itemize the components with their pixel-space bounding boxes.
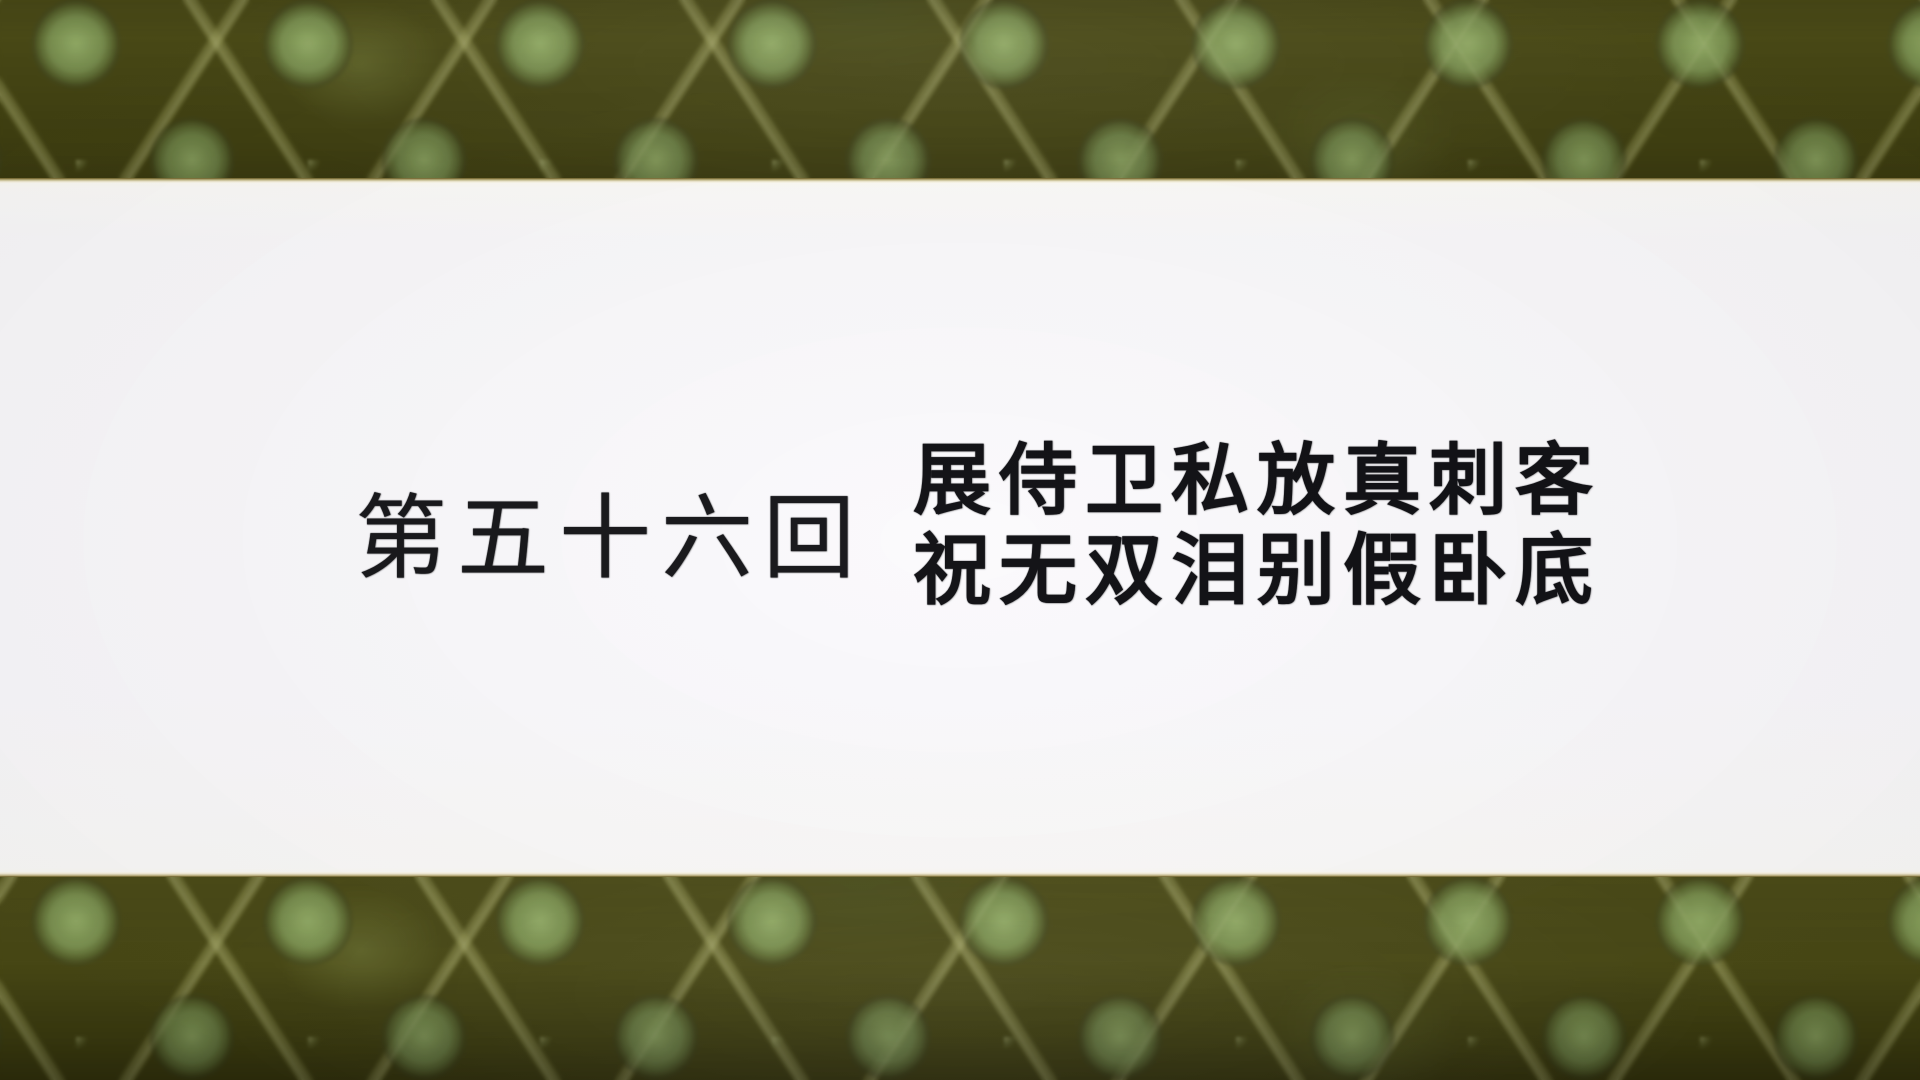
decorative-tile-border-bottom	[0, 877, 1920, 1080]
couplet-line-first: 展侍卫私放真刺客	[913, 437, 1601, 524]
couplet-line-second: 祝无双泪别假卧底	[913, 527, 1601, 614]
title-card-screen: 第五十六回 展侍卫私放真刺客 祝无双泪别假卧底	[0, 0, 1920, 1080]
chapter-number-label: 第五十六回	[355, 489, 865, 590]
ornament-vignette	[0, 0, 1920, 178]
ornament-vignette	[0, 877, 1920, 1080]
decorative-tile-border-top	[0, 0, 1920, 178]
title-text-block: 第五十六回 展侍卫私放真刺客 祝无双泪别假卧底	[0, 178, 1920, 877]
chapter-couplet: 展侍卫私放真刺客 祝无双泪别假卧底	[913, 437, 1601, 614]
